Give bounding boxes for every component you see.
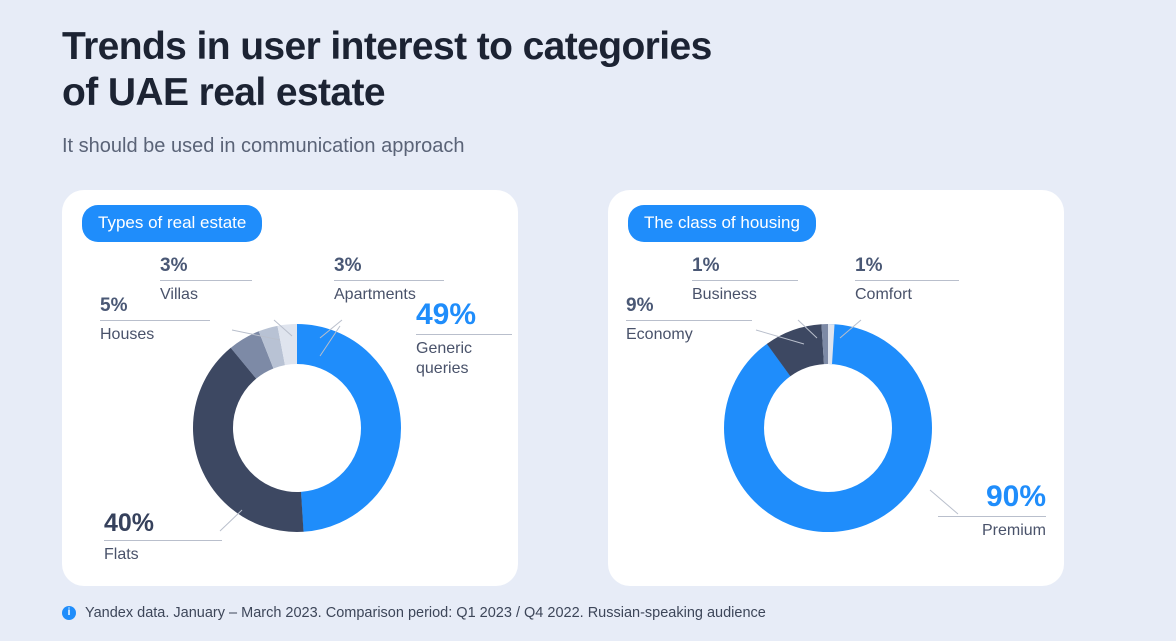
callout-premium-label: Premium bbox=[938, 521, 1046, 541]
leader-line-generic-queries bbox=[320, 326, 340, 356]
callout-comfort-label: Comfort bbox=[855, 285, 959, 305]
callout-premium-rule bbox=[938, 516, 1046, 517]
callout-flats-label: Flats bbox=[104, 545, 222, 565]
leader-lines bbox=[756, 320, 958, 514]
callout-economy-label: Economy bbox=[626, 325, 752, 345]
leader-line-business bbox=[798, 320, 817, 338]
donut-slice-apartments bbox=[199, 330, 396, 527]
donut-slice-economy bbox=[711, 311, 946, 546]
chart-card-the-class-of-housing: The class of housing 1% Bu bbox=[608, 190, 1064, 586]
donut-slice-comfort bbox=[744, 344, 912, 512]
footer-note: i Yandex data. January – March 2023. Com… bbox=[62, 604, 766, 622]
callout-houses-rule bbox=[100, 320, 210, 321]
chart-card-types-of-real-estate: Types of real estate bbox=[62, 190, 518, 586]
callout-comfort: 1% Comfort bbox=[855, 255, 959, 305]
callout-apartments-rule bbox=[334, 280, 444, 281]
donut-slice-villas bbox=[188, 319, 406, 537]
callout-business-rule bbox=[692, 280, 798, 281]
callout-economy-percent: 9% bbox=[626, 295, 752, 317]
callout-houses-percent: 5% bbox=[100, 295, 210, 317]
callout-economy-rule bbox=[626, 320, 752, 321]
leader-line-flats bbox=[220, 510, 242, 531]
footer-note-text: Yandex data. January – March 2023. Compa… bbox=[85, 604, 766, 622]
callout-generic-queries-percent: 49% bbox=[416, 298, 512, 331]
page-header: Trends in user interest to categories of… bbox=[62, 24, 962, 159]
donut-slice-generic-queries bbox=[213, 344, 381, 512]
callout-business-percent: 1% bbox=[692, 255, 798, 277]
callout-premium: 90% Premium bbox=[938, 480, 1046, 541]
page-subtitle: It should be used in communication appro… bbox=[62, 133, 962, 159]
callout-villas-percent: 3% bbox=[160, 255, 252, 277]
callout-apartments-percent: 3% bbox=[334, 255, 444, 277]
callout-villas-rule bbox=[160, 280, 252, 281]
callout-flats: 40% Flats bbox=[104, 509, 222, 565]
callout-comfort-percent: 1% bbox=[855, 255, 959, 277]
donut-slice-business bbox=[739, 339, 917, 517]
callout-houses-label: Houses bbox=[100, 325, 210, 345]
leader-lines bbox=[220, 320, 342, 531]
chart-badge-types-of-real-estate[interactable]: Types of real estate bbox=[82, 205, 262, 242]
leader-line-houses bbox=[232, 330, 280, 340]
page-title: Trends in user interest to categories of… bbox=[62, 24, 962, 116]
leader-line-villas bbox=[274, 320, 292, 336]
callout-comfort-rule bbox=[855, 280, 959, 281]
callout-economy: 9% Economy bbox=[626, 295, 752, 345]
leader-line-apartments bbox=[320, 320, 342, 338]
callout-premium-percent: 90% bbox=[938, 480, 1046, 513]
chart-badge-the-class-of-housing[interactable]: The class of housing bbox=[628, 205, 816, 242]
callout-flats-rule bbox=[104, 540, 222, 541]
donut-slice-premium bbox=[744, 344, 912, 512]
callout-flats-percent: 40% bbox=[104, 509, 222, 537]
callout-generic-queries: 49% Generic queries bbox=[416, 298, 512, 379]
donut-slice-flats bbox=[208, 339, 386, 517]
leader-line-economy bbox=[756, 330, 804, 344]
callout-generic-queries-rule bbox=[416, 334, 512, 335]
callout-houses: 5% Houses bbox=[100, 295, 210, 345]
info-icon: i bbox=[62, 606, 76, 620]
callout-generic-queries-label: Generic queries bbox=[416, 339, 512, 379]
leader-line-comfort bbox=[840, 320, 861, 338]
